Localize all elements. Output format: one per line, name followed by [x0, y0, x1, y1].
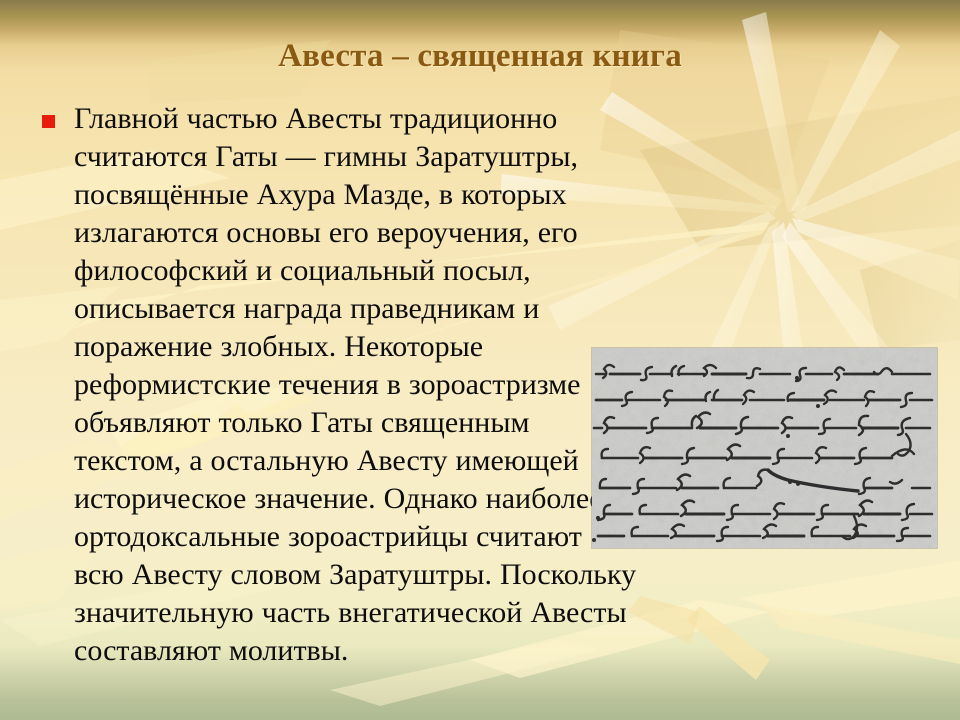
content-placeholder: Главной частью Авесты традиционно считаю…	[38, 100, 638, 670]
square-bullet-icon	[42, 115, 55, 128]
slide-canvas: Авеста – священная книга Главной частью …	[0, 0, 960, 720]
bullet-text: Главной частью Авесты традиционно считаю…	[74, 100, 638, 670]
avestan-manuscript-image	[592, 348, 937, 548]
slide-title: Авеста – священная книга	[0, 38, 960, 75]
list-item: Главной частью Авесты традиционно считаю…	[38, 100, 638, 670]
